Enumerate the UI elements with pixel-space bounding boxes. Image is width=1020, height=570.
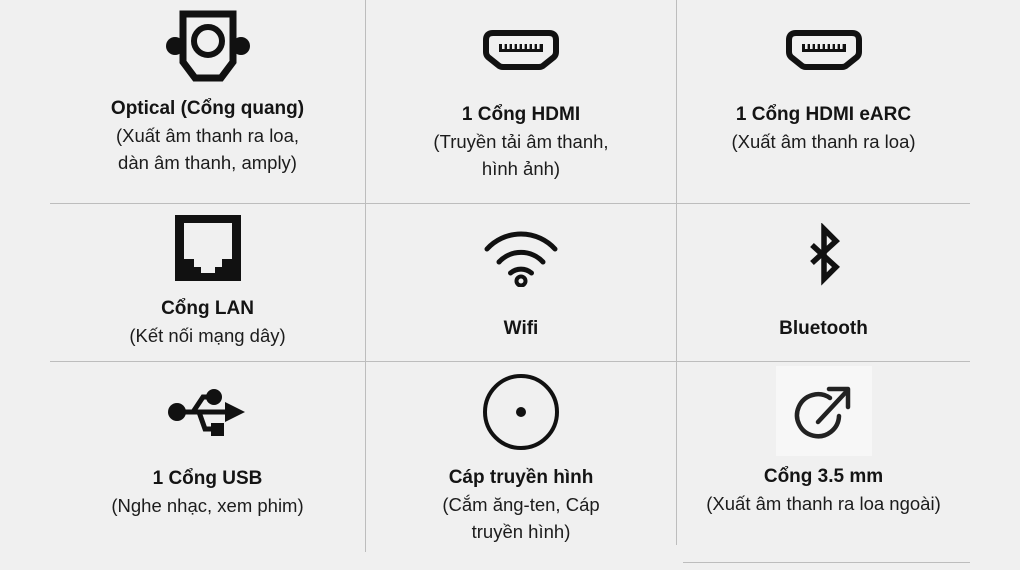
port-subtitle-line: dàn âm thanh, amply) xyxy=(116,149,299,176)
port-title-antenna: Cáp truyền hình xyxy=(449,465,594,491)
grid-divider-horizontal-2 xyxy=(50,361,970,362)
icon-container-hdmi-earc xyxy=(780,24,868,76)
port-cell-antenna: Cáp truyền hình (Cắm ăng-ten, Cáp truyền… xyxy=(366,371,676,545)
port-title-hdmi: 1 Cổng HDMI xyxy=(462,102,580,128)
icon-container-optical xyxy=(166,8,250,86)
port-subtitle-hdmi-earc: (Xuất âm thanh ra loa) xyxy=(731,128,915,155)
port-subtitle-line: (Nghe nhạc, xem phim) xyxy=(111,492,303,519)
port-cell-lan: Cổng LAN (Kết nối mạng dây) xyxy=(50,214,365,349)
port-subtitle-line: (Truyền tải âm thanh, xyxy=(433,128,608,155)
icon-container-antenna xyxy=(481,371,561,453)
port-cell-usb: 1 Cổng USB (Nghe nhạc, xem phim) xyxy=(50,382,365,519)
port-subtitle-optical: (Xuất âm thanh ra loa, dàn âm thanh, amp… xyxy=(116,122,299,176)
coaxial-antenna-port-icon xyxy=(481,372,561,452)
icon-container-wifi xyxy=(483,222,559,294)
grid-divider-horizontal-3 xyxy=(683,562,970,563)
optical-toslink-port-icon xyxy=(166,8,250,86)
icon-container-bluetooth xyxy=(800,222,848,294)
lan-ethernet-port-icon xyxy=(175,215,241,281)
port-subtitle-line: (Kết nối mạng dây) xyxy=(129,322,285,349)
port-title-lan: Cổng LAN xyxy=(161,296,254,322)
port-cell-bluetooth: Bluetooth xyxy=(677,222,970,342)
icon-container-jack35 xyxy=(776,366,872,456)
icon-container-usb xyxy=(167,382,249,442)
port-cell-optical: Optical (Cổng quang) (Xuất âm thanh ra l… xyxy=(50,8,365,176)
hdmi-port-icon xyxy=(780,28,868,72)
connectivity-ports-grid: Optical (Cổng quang) (Xuất âm thanh ra l… xyxy=(0,0,1020,570)
bluetooth-icon xyxy=(800,223,848,293)
port-subtitle-line: (Xuất âm thanh ra loa, xyxy=(116,122,299,149)
hdmi-port-icon xyxy=(477,28,565,72)
usb-port-icon xyxy=(167,385,249,439)
port-subtitle-line: (Xuất âm thanh ra loa) xyxy=(731,128,915,155)
port-title-usb: 1 Cổng USB xyxy=(153,466,263,492)
port-subtitle-line: hình ảnh) xyxy=(433,155,608,182)
port-subtitle-line: truyền hình) xyxy=(442,518,599,545)
audio-out-arrow-icon xyxy=(789,376,859,446)
port-cell-jack35: Cổng 3.5 mm (Xuất âm thanh ra loa ngoài) xyxy=(677,366,970,517)
port-subtitle-antenna: (Cắm ăng-ten, Cáp truyền hình) xyxy=(442,491,599,545)
port-cell-wifi: Wifi xyxy=(366,222,676,342)
wifi-icon xyxy=(483,229,559,287)
port-title-bluetooth: Bluetooth xyxy=(779,316,868,342)
icon-container-lan xyxy=(175,214,241,282)
port-subtitle-line: (Xuất âm thanh ra loa ngoài) xyxy=(706,490,940,517)
port-title-wifi: Wifi xyxy=(504,316,539,342)
port-cell-hdmi: 1 Cổng HDMI (Truyền tải âm thanh, hình ả… xyxy=(366,24,676,182)
port-subtitle-lan: (Kết nối mạng dây) xyxy=(129,322,285,349)
port-title-jack35: Cổng 3.5 mm xyxy=(764,464,883,490)
icon-container-hdmi xyxy=(477,24,565,76)
port-title-hdmi-earc: 1 Cổng HDMI eARC xyxy=(736,102,911,128)
port-subtitle-usb: (Nghe nhạc, xem phim) xyxy=(111,492,303,519)
port-subtitle-hdmi: (Truyền tải âm thanh, hình ảnh) xyxy=(433,128,608,182)
port-subtitle-line: (Cắm ăng-ten, Cáp xyxy=(442,491,599,518)
port-cell-hdmi-earc: 1 Cổng HDMI eARC (Xuất âm thanh ra loa) xyxy=(677,24,970,155)
port-subtitle-jack35: (Xuất âm thanh ra loa ngoài) xyxy=(706,490,940,517)
port-title-optical: Optical (Cổng quang) xyxy=(111,96,304,122)
grid-divider-horizontal-1 xyxy=(50,203,970,204)
